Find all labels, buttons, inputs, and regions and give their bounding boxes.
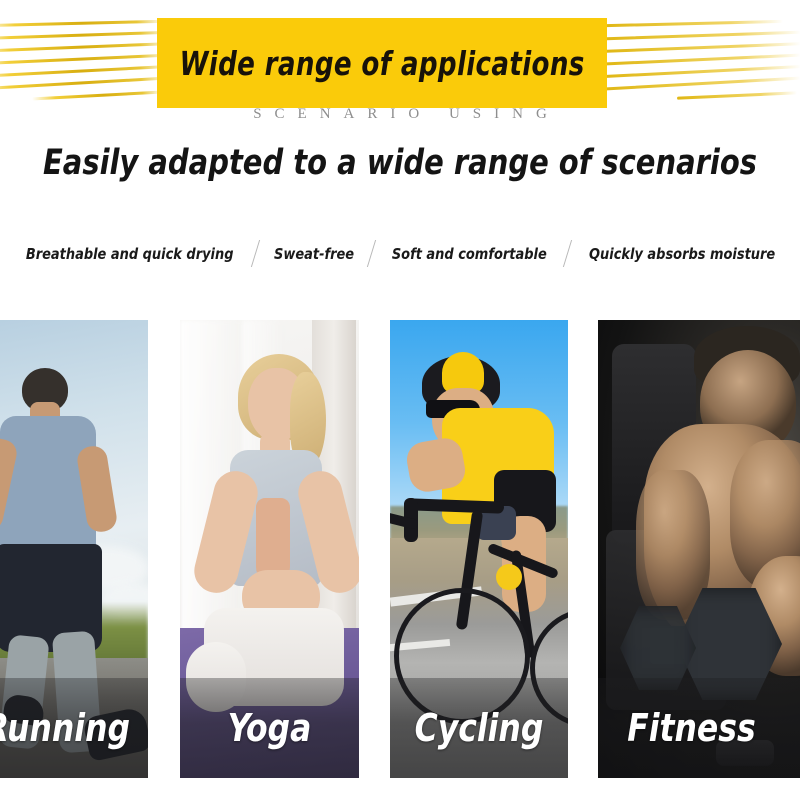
decorative-stripes-right	[605, 20, 800, 110]
panel-label-overlay: Fitness	[598, 678, 800, 778]
decorative-stripe	[0, 65, 163, 78]
decorative-stripe	[0, 76, 163, 90]
panel-label-fitness: Fitness	[607, 706, 800, 750]
panel-label-running: Running	[0, 706, 141, 750]
panel-label-overlay: Yoga	[180, 678, 359, 778]
decorative-stripe	[605, 77, 800, 91]
decorative-stripe	[0, 54, 163, 65]
feature-item: Breathable and quick drying	[13, 245, 247, 263]
panel-label-overlay: Running	[0, 678, 148, 778]
page-headline: Easily adapted to a wide range of scenar…	[32, 143, 768, 183]
feature-list: Breathable and quick drying Sweat-free S…	[0, 240, 800, 267]
feature-separator-icon	[251, 240, 261, 267]
decorative-stripe	[605, 31, 800, 40]
scenario-panel-running[interactable]: Running	[0, 320, 148, 778]
decorative-stripe	[677, 91, 797, 99]
banner-title: Wide range of applications	[179, 44, 584, 83]
decorative-stripe	[605, 42, 800, 52]
feature-item: Soft and comfortable	[379, 245, 560, 263]
panel-label-cycling: Cycling	[397, 706, 561, 750]
decorative-stripe	[32, 91, 162, 100]
scenario-panel-grid: Running Yoga	[0, 320, 800, 780]
panel-label-overlay: Cycling	[390, 678, 568, 778]
decorative-stripes-left	[0, 20, 163, 110]
scenario-panel-fitness[interactable]: Fitness	[598, 320, 800, 778]
decorative-stripe	[605, 54, 800, 65]
title-banner-box: Wide range of applications	[157, 18, 607, 108]
decorative-stripe	[0, 31, 163, 40]
scenario-panel-yoga[interactable]: Yoga	[180, 320, 359, 778]
feature-item: Sweat-free	[260, 245, 366, 263]
decorative-stripe	[605, 20, 783, 27]
decorative-stripe	[605, 65, 800, 78]
feature-separator-icon	[562, 240, 572, 267]
panel-label-yoga: Yoga	[187, 706, 352, 750]
feature-item: Quickly absorbs moisture	[576, 245, 788, 263]
scenario-panel-cycling[interactable]: Cycling	[390, 320, 568, 778]
banner-subtitle: SCENARIO USING	[0, 106, 800, 123]
decorative-stripe	[0, 20, 163, 27]
decorative-stripe	[0, 42, 163, 52]
feature-separator-icon	[366, 240, 376, 267]
banner-section: Wide range of applications SCENARIO USIN…	[0, 0, 800, 132]
